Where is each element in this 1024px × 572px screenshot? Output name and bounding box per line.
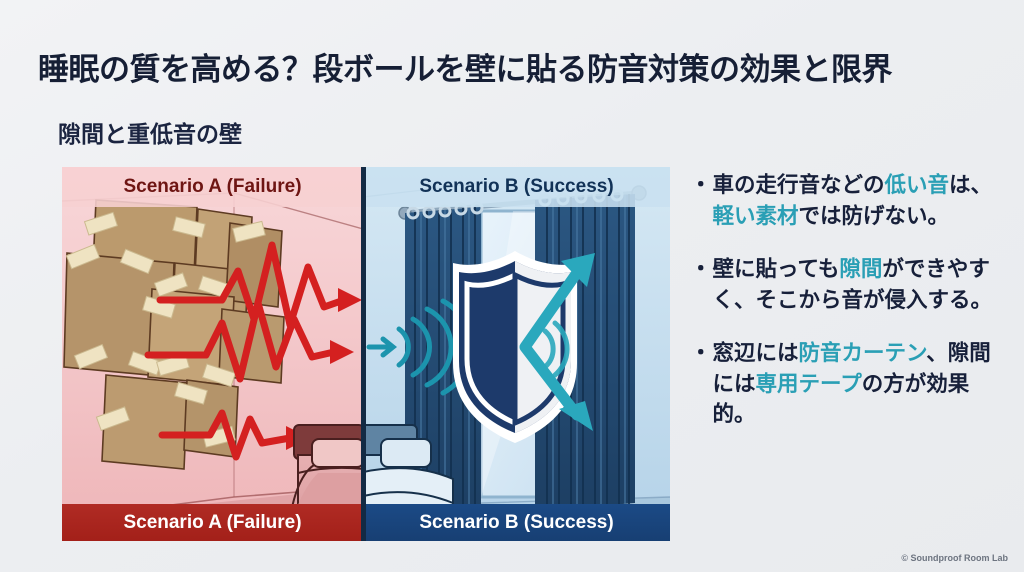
bullet-plain: では防げない。 <box>799 204 950 228</box>
bullet-plain: 壁に貼っても <box>713 257 840 281</box>
bullet-highlight: 隙間 <box>839 257 882 281</box>
bullet-item: ・壁に貼っても隙間ができやすく、そこから音が侵入する。 <box>690 254 1008 315</box>
bullet-marker-icon: ・ <box>690 338 712 430</box>
scenario-a-panel: Scenario A (Failure) Scenario A (Failure… <box>62 167 363 541</box>
panel-divider <box>361 167 366 541</box>
illustration-figure: Scenario A (Failure) Scenario A (Failure… <box>62 167 670 541</box>
credit-label: © Soundproof Room Lab <box>901 553 1008 563</box>
bullet-highlight: 低い音 <box>885 173 950 197</box>
scenario-a-artwork <box>62 167 363 541</box>
scenario-a-caption-bottom: Scenario A (Failure) <box>62 504 363 541</box>
page-title: 睡眠の質を高める？段ボールを壁に貼る防音対策の効果と限界 <box>38 44 998 89</box>
bullet-item: ・車の走行音などの低い音は、軽い素材では防げない。 <box>690 170 1008 231</box>
scenario-b-panel: Scenario B (Success) Scenario B (Success… <box>363 167 670 541</box>
bullet-highlight: 軽い素材 <box>713 204 799 228</box>
bullet-plain: 車の走行音などの <box>713 173 885 197</box>
bullet-text: 車の走行音などの低い音は、軽い素材では防げない。 <box>713 170 1008 231</box>
scenario-b-artwork <box>363 167 670 541</box>
bullet-highlight: 専用テープ <box>756 372 862 396</box>
bullet-text: 窓辺には防音カーテン、隙間には専用テープの方が効果的。 <box>713 338 1008 430</box>
bullet-plain: は、 <box>949 173 992 197</box>
bullet-highlight: 防音カーテン <box>799 341 927 365</box>
scenario-b-caption-top: Scenario B (Success) <box>363 167 670 207</box>
scenario-b-caption-bottom: Scenario B (Success) <box>363 504 670 541</box>
bullet-marker-icon: ・ <box>690 254 712 315</box>
bullet-list: ・車の走行音などの低い音は、軽い素材では防げない。・壁に貼っても隙間ができやすく… <box>690 170 1008 453</box>
bullet-item: ・窓辺には防音カーテン、隙間には専用テープの方が効果的。 <box>690 338 1008 430</box>
bullet-plain: 窓辺には <box>713 341 799 365</box>
bullet-marker-icon: ・ <box>690 170 712 231</box>
page-subtitle: 隙間と重低音の壁 <box>58 115 242 149</box>
scenario-a-caption-top: Scenario A (Failure) <box>62 167 363 207</box>
bullet-text: 壁に貼っても隙間ができやすく、そこから音が侵入する。 <box>713 254 1008 315</box>
